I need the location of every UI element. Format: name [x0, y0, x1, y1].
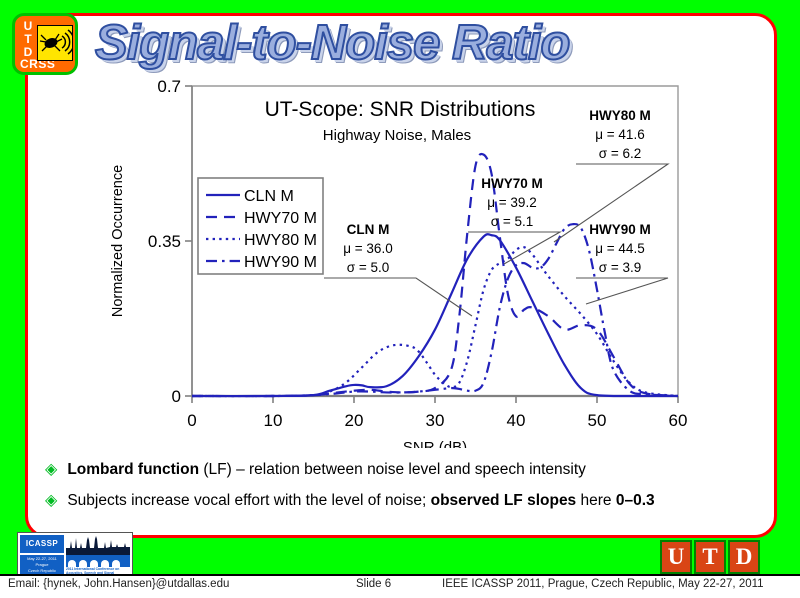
bullet-text-run: Lombard function	[67, 461, 199, 478]
annotation-mu: μ = 44.5	[595, 241, 644, 256]
crss-logo-utd-letters: UTD	[20, 20, 36, 59]
icassp-logo-city: Prague	[36, 562, 49, 567]
x-tick-label: 0	[187, 411, 196, 430]
y-tick-label: 0.7	[157, 78, 181, 96]
bullet-text-run: (LF) – relation between noise level and …	[199, 461, 586, 478]
footer-conference: IEEE ICASSP 2011, Prague, Czech Republic…	[442, 578, 764, 590]
x-tick-label: 40	[507, 411, 526, 430]
utd-logo-letter: U	[660, 540, 692, 574]
snr-distribution-chart: 010203040506000.350.7SNR (dB)Normalized …	[100, 78, 700, 448]
icassp-logo-dates: May 22-27, 2011 Prague Czech Republic	[20, 555, 64, 574]
legend-label: CLN M	[244, 188, 294, 205]
bullet-text: Subjects increase vocal effort with the …	[67, 491, 654, 510]
y-tick-label: 0.35	[148, 232, 181, 251]
icassp-logo: ICASSP May 22-27, 2011 Prague Czech Repu…	[17, 532, 133, 576]
bullet-text: Lombard function (LF) – relation between…	[67, 460, 586, 479]
bullet-text-run: observed LF slopes	[431, 492, 577, 509]
footer-slide-number: Slide 6	[356, 578, 391, 590]
x-tick-label: 60	[669, 411, 688, 430]
chart-svg: 010203040506000.350.7SNR (dB)Normalized …	[100, 78, 700, 448]
annotation-mu: μ = 41.6	[595, 127, 644, 142]
y-tick-label: 0	[172, 387, 181, 406]
utd-logo: UTD	[660, 540, 764, 574]
y-axis-label: Normalized Occurrence	[110, 165, 126, 317]
icassp-logo-country: Czech Republic	[28, 568, 56, 573]
x-tick-label: 30	[426, 411, 445, 430]
footer-email: Email: {hynek, John.Hansen}@utdallas.edu	[8, 578, 229, 590]
bullet-list: ◈Lombard function (LF) – relation betwee…	[45, 460, 745, 522]
legend-label: HWY80 M	[244, 232, 317, 249]
cricket-icon	[37, 25, 73, 61]
annotation-leader	[576, 278, 668, 304]
bullet-text-run: Subjects increase vocal effort with the …	[67, 492, 430, 509]
annotation-leader	[468, 232, 560, 264]
x-tick-label: 50	[588, 411, 607, 430]
bullet-text-run: here	[576, 492, 616, 509]
legend-label: HWY90 M	[244, 254, 317, 271]
annotation-label: CLN M	[347, 222, 390, 237]
utd-logo-letter: T	[694, 540, 726, 574]
page-title: Signal-to-Noise Ratio	[95, 8, 735, 78]
footer-bar: Email: {hynek, John.Hansen}@utdallas.edu…	[0, 576, 800, 598]
icassp-logo-date-line: May 22-27, 2011	[27, 556, 57, 561]
x-tick-label: 20	[345, 411, 364, 430]
legend-label: HWY70 M	[244, 210, 317, 227]
annotation-sigma: σ = 3.9	[599, 260, 641, 275]
annotation-sigma: σ = 5.1	[491, 214, 533, 229]
annotation-sigma: σ = 6.2	[599, 146, 641, 161]
annotation-label: HWY70 M	[481, 176, 543, 191]
charles-bridge-icon	[66, 555, 130, 567]
bullet-item: ◈Lombard function (LF) – relation betwee…	[45, 460, 745, 479]
annotation-mu: μ = 39.2	[487, 195, 536, 210]
annotation-label: HWY80 M	[589, 108, 651, 123]
annotation-label: HWY90 M	[589, 222, 651, 237]
x-axis-label: SNR (dB)	[403, 439, 467, 448]
diamond-bullet-icon: ◈	[45, 460, 57, 479]
utd-logo-letter: D	[728, 540, 760, 574]
annotation-mu: μ = 36.0	[343, 241, 392, 256]
chart-legend: CLN MHWY70 MHWY80 MHWY90 M	[198, 178, 323, 274]
crss-logo: UTD CRSS	[12, 13, 78, 75]
chart-title: UT-Scope: SNR Distributions	[265, 98, 536, 121]
bullet-text-run: 0–0.3	[616, 492, 655, 509]
bullet-item: ◈Subjects increase vocal effort with the…	[45, 491, 745, 510]
icassp-logo-name: ICASSP	[20, 535, 64, 553]
chart-subtitle: Highway Noise, Males	[323, 127, 471, 144]
x-tick-label: 10	[264, 411, 283, 430]
prague-skyline-icon	[66, 535, 130, 555]
annotation-sigma: σ = 5.0	[347, 260, 389, 275]
diamond-bullet-icon: ◈	[45, 491, 57, 510]
